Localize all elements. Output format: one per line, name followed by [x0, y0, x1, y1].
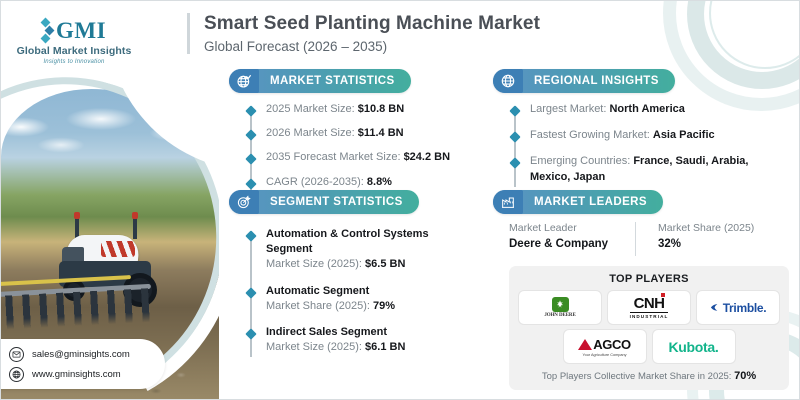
segment-statistics-list: Automation & Control Systems Segment Mar… — [245, 227, 471, 366]
list-item: 2025 Market Size: $10.8 BN — [245, 102, 495, 117]
list-item: Automatic Segment Market Share (2025): 7… — [245, 284, 471, 314]
section-label: SEGMENT STATISTICS — [259, 196, 419, 208]
player-sub-agco: Your Agriculture Company — [583, 353, 627, 357]
gmi-logo: GMI Global Market Insights Insights to I… — [11, 15, 137, 67]
section-header-market-statistics: MARKET STATISTICS — [229, 69, 411, 93]
list-item: CAGR (2026-2035): 8.8% — [245, 175, 495, 190]
list-item: Fastest Growing Market: Asia Pacific — [509, 128, 777, 143]
section-header-regional-insights: REGIONAL INSIGHTS — [493, 69, 675, 93]
item-heading: Automation & Control Systems Segment — [266, 227, 471, 257]
market-share-column: Market Share (2025) 32% — [635, 222, 761, 256]
player-name-john-deere: JOHN DEERE — [544, 313, 575, 318]
bullet-icon — [509, 105, 520, 116]
bullet-icon — [245, 287, 256, 298]
item-label: 2025 Market Size: — [266, 103, 358, 115]
player-logo-trimble[interactable]: Trimble. — [697, 291, 779, 324]
bullet-icon — [245, 154, 256, 165]
factory-icon — [493, 190, 523, 214]
player-name-agco: AGCO — [593, 337, 630, 352]
title-main: Smart Seed Planting Machine Market — [204, 13, 540, 35]
item-heading: Indirect Sales Segment — [266, 325, 471, 340]
diamond-icon — [42, 19, 53, 42]
player-logo-cnh-industrial[interactable]: CNH INDUSTRIAL — [608, 291, 690, 324]
market-statistics-list: 2025 Market Size: $10.8 BN 2026 Market S… — [245, 102, 495, 199]
agco-logo: AGCO Your Agriculture Company — [578, 337, 630, 357]
item-value: Asia Pacific — [653, 129, 715, 141]
target-segment-icon — [229, 190, 259, 214]
infographic-frame: GMI Global Market Insights Insights to I… — [0, 0, 800, 400]
item-label: Fastest Growing Market: — [530, 129, 653, 141]
list-item: 2035 Forecast Market Size: $24.2 BN — [245, 150, 495, 165]
player-name-cnh: CNH — [634, 295, 665, 312]
item-value: 8.8% — [367, 176, 392, 188]
section-label: MARKET STATISTICS — [259, 75, 411, 87]
section-header-market-leaders: MARKET LEADERS — [493, 190, 663, 214]
item-label: Market Size (2025): — [266, 258, 365, 270]
top-players-title: TOP PLAYERS — [518, 273, 780, 285]
footer-label: Top Players Collective Market Share in 2… — [542, 371, 734, 382]
footer-value: 70% — [734, 370, 756, 382]
top-players-row-2: AGCO Your Agriculture Company Kubota. — [518, 330, 780, 363]
bullet-icon — [509, 158, 520, 169]
contact-email: sales@gminsights.com — [32, 349, 130, 360]
section-label: REGIONAL INSIGHTS — [523, 75, 675, 87]
market-leader-column: Market Leader Deere & Company — [509, 222, 635, 250]
globe-chart-icon — [229, 69, 259, 93]
page-title: Smart Seed Planting Machine Market Globa… — [187, 13, 540, 54]
market-share-caption: Market Share (2025) — [658, 222, 761, 234]
contact-website-row[interactable]: www.gminsights.com — [9, 367, 165, 382]
logo-initials: GMI — [56, 18, 106, 44]
item-value: 79% — [373, 300, 395, 312]
list-item: 2026 Market Size: $11.4 BN — [245, 126, 495, 141]
market-leader-value: Deere & Company — [509, 238, 635, 250]
section-header-segment-statistics: SEGMENT STATISTICS — [229, 190, 419, 214]
globe-icon — [9, 367, 24, 382]
player-logo-agco[interactable]: AGCO Your Agriculture Company — [564, 330, 646, 363]
contact-email-row[interactable]: sales@gminsights.com — [9, 347, 165, 362]
item-value: North America — [609, 103, 684, 115]
bullet-icon — [245, 105, 256, 116]
bullet-icon — [509, 132, 520, 143]
list-item: Automation & Control Systems Segment Mar… — [245, 227, 471, 273]
player-logo-john-deere[interactable]: JOHN DEERE — [519, 291, 601, 324]
item-label: 2026 Market Size: — [266, 127, 358, 139]
item-label: Largest Market: — [530, 103, 609, 115]
list-item: Largest Market: North America — [509, 102, 777, 117]
trimble-logo: Trimble. — [710, 301, 767, 315]
title-subtitle: Global Forecast (2026 – 2035) — [204, 39, 540, 54]
item-label: Emerging Countries: — [530, 155, 633, 167]
item-heading: Automatic Segment — [266, 284, 471, 299]
section-label: MARKET LEADERS — [523, 196, 663, 208]
item-value: $6.5 BN — [365, 258, 405, 270]
corner-arc-decoration — [709, 0, 800, 69]
bullet-icon — [245, 130, 256, 141]
item-value: $24.2 BN — [404, 151, 450, 163]
corner-arc-decoration — [663, 0, 800, 111]
player-logo-kubota[interactable]: Kubota. — [653, 330, 735, 363]
top-players-card: TOP PLAYERS JOHN DEERE CNH INDUSTRIAL — [509, 266, 789, 390]
item-value: $11.4 BN — [358, 127, 404, 139]
item-label: Market Share (2025): — [266, 300, 373, 312]
logo-tagline: Insights to Innovation — [43, 59, 104, 65]
list-item: Indirect Sales Segment Market Size (2025… — [245, 325, 471, 355]
top-players-footer: Top Players Collective Market Share in 2… — [518, 370, 780, 382]
item-label: Market Size (2025): — [266, 341, 365, 353]
player-name-trimble: Trimble. — [723, 301, 767, 315]
corner-arc-decoration — [687, 0, 800, 89]
list-item: Emerging Countries: France, Saudi, Arabi… — [509, 154, 777, 184]
contact-panel: sales@gminsights.com www.gminsights.com — [0, 339, 165, 389]
item-label: CAGR (2026-2035): — [266, 176, 367, 188]
logo-company-name: Global Market Insights — [17, 45, 132, 57]
bullet-icon — [245, 178, 256, 189]
market-share-value: 32% — [658, 238, 761, 250]
planter-implement — [1, 285, 165, 329]
contact-website: www.gminsights.com — [32, 369, 121, 380]
globe-icon — [493, 69, 523, 93]
player-sub-cnh: INDUSTRIAL — [630, 312, 669, 319]
item-value: $6.1 BN — [365, 341, 405, 353]
item-label: 2035 Forecast Market Size: — [266, 151, 404, 163]
item-value: $10.8 BN — [358, 103, 404, 115]
market-leader-details: Market Leader Deere & Company Market Sha… — [509, 222, 781, 258]
john-deere-logo — [552, 297, 569, 312]
top-players-row-1: JOHN DEERE CNH INDUSTRIAL Trimble. — [518, 291, 780, 324]
bullet-icon — [245, 230, 256, 241]
regional-insights-list: Largest Market: North America Fastest Gr… — [509, 102, 777, 196]
cnh-logo: CNH INDUSTRIAL — [630, 296, 669, 319]
envelope-icon — [9, 347, 24, 362]
kubota-logo: Kubota. — [668, 339, 718, 355]
bullet-icon — [245, 328, 256, 339]
market-leader-caption: Market Leader — [509, 222, 635, 234]
